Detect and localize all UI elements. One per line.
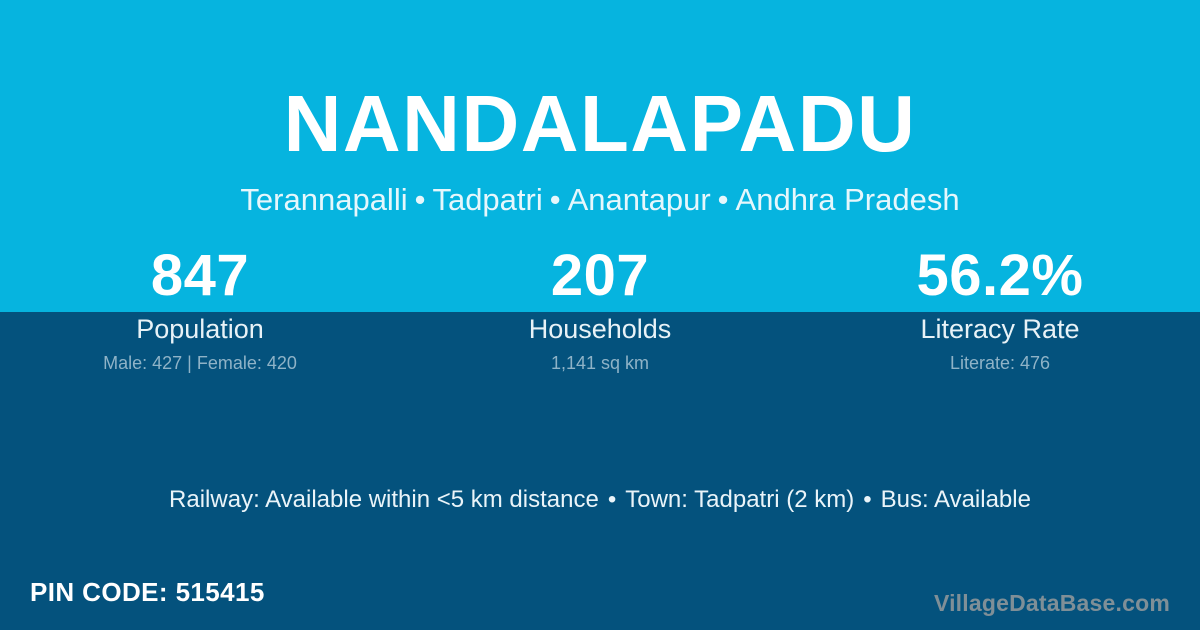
stat-sublabel: 1,141 sq km bbox=[400, 351, 800, 375]
stat-literacy-rate: 56.2% Literacy Rate Literate: 476 bbox=[800, 243, 1200, 375]
stat-population: 847 Population Male: 427 | Female: 420 bbox=[0, 243, 400, 375]
separator-dot: • bbox=[543, 182, 568, 217]
stat-sublabel: Male: 427 | Female: 420 bbox=[0, 351, 400, 375]
stat-households: 207 Households 1,141 sq km bbox=[400, 243, 800, 375]
amenity-item: Bus: Available bbox=[881, 486, 1031, 513]
village-info-card: NANDALAPADU Terannapalli•Tadpatri•Ananta… bbox=[0, 0, 1200, 630]
separator-dot: • bbox=[854, 486, 880, 513]
separator-dot: • bbox=[599, 486, 625, 513]
site-brand: VillageDataBase.com bbox=[934, 588, 1170, 618]
breadcrumb-item: Anantapur bbox=[568, 182, 711, 217]
stat-sublabel: Literate: 476 bbox=[800, 351, 1200, 375]
stat-value: 847 bbox=[0, 243, 400, 309]
breadcrumb-item: Terannapalli bbox=[240, 182, 407, 217]
amenity-item: Town: Tadpatri (2 km) bbox=[625, 486, 854, 513]
stat-label: Population bbox=[0, 312, 400, 346]
amenity-item: Railway: Available within <5 km distance bbox=[169, 486, 599, 513]
stat-value: 56.2% bbox=[800, 243, 1200, 309]
stats-row: 847 Population Male: 427 | Female: 420 2… bbox=[0, 243, 1200, 375]
separator-dot: • bbox=[711, 182, 736, 217]
stat-label: Literacy Rate bbox=[800, 312, 1200, 346]
breadcrumb: Terannapalli•Tadpatri•Anantapur•Andhra P… bbox=[0, 180, 1200, 220]
pin-code: PIN CODE: 515415 bbox=[30, 575, 265, 609]
separator-dot: • bbox=[408, 182, 433, 217]
stat-value: 207 bbox=[400, 243, 800, 309]
breadcrumb-item: Andhra Pradesh bbox=[736, 182, 960, 217]
page-title: NANDALAPADU bbox=[0, 78, 1200, 170]
breadcrumb-item: Tadpatri bbox=[432, 182, 542, 217]
stat-label: Households bbox=[400, 312, 800, 346]
amenities-line: Railway: Available within <5 km distance… bbox=[0, 483, 1200, 517]
